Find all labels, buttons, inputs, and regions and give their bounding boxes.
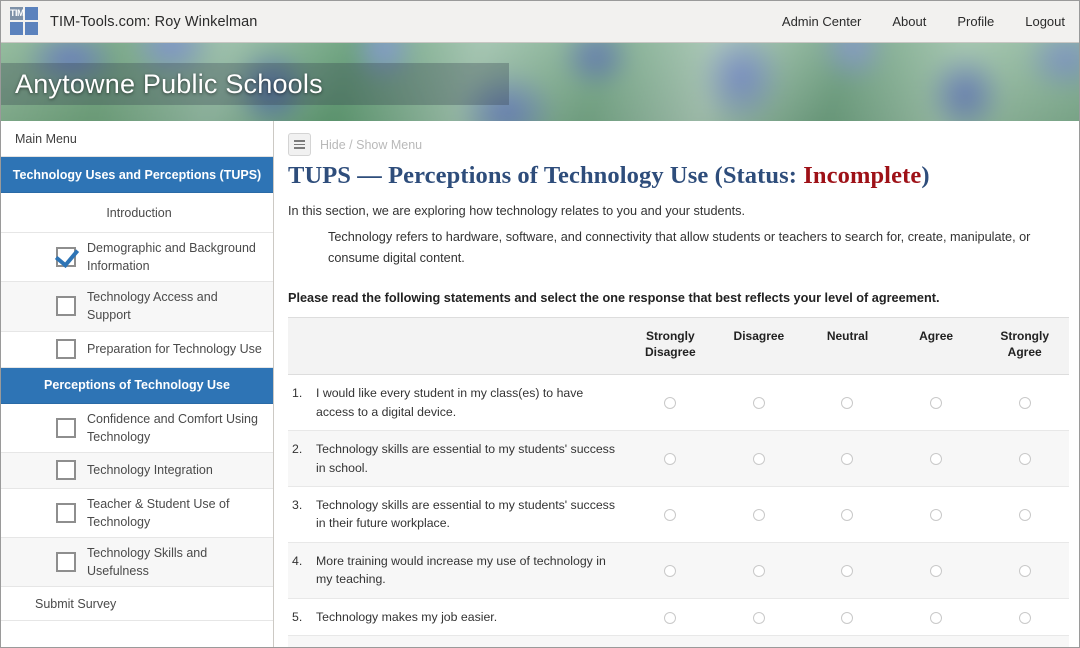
question-text: I would like every student in my class(e… (316, 384, 616, 421)
radio-cell-agree[interactable] (892, 598, 981, 635)
district-banner: Anytowne Public Schools (1, 43, 1079, 121)
radio-cell-neutral[interactable] (803, 487, 892, 543)
radio-button[interactable] (930, 565, 942, 577)
question-number: 6. (292, 645, 316, 647)
radio-cell-strongly-agree[interactable] (980, 598, 1069, 635)
top-bar: TIM TIM-Tools.com: Roy Winkelman Admin C… (1, 1, 1079, 43)
radio-cell-strongly-agree[interactable] (980, 487, 1069, 543)
checkbox-unchecked-icon[interactable] (56, 339, 76, 359)
sidebar-item-label: Submit Survey (35, 597, 116, 611)
question-text: Technology skills are essential to my st… (316, 440, 616, 477)
radio-button[interactable] (841, 612, 853, 624)
app-window: TIM TIM-Tools.com: Roy Winkelman Admin C… (0, 0, 1080, 648)
question-number: 3. (292, 496, 316, 533)
sidebar-item-label: Technology Integration (87, 461, 213, 479)
radio-button[interactable] (664, 453, 676, 465)
sidebar-item-introduction[interactable]: Introduction (1, 193, 273, 233)
logo-text: TIM (10, 7, 23, 20)
site-title: TIM-Tools.com: Roy Winkelman (50, 14, 257, 30)
question-cell: 6. Technology changes my role as a teach… (288, 636, 626, 647)
sidebar-item-label: Demographic and Background Information (87, 239, 262, 275)
page-title: TUPS — Perceptions of Technology Use (St… (288, 162, 1069, 190)
sidebar-item-label: Preparation for Technology Use (87, 340, 262, 358)
table-row: 1. I would like every student in my clas… (288, 375, 1069, 431)
survey-table-head: Strongly Disagree Disagree Neutral Agree… (288, 317, 1069, 374)
radio-button[interactable] (753, 612, 765, 624)
radio-button[interactable] (930, 612, 942, 624)
table-row: 6. Technology changes my role as a teach… (288, 636, 1069, 647)
radio-button[interactable] (664, 612, 676, 624)
radio-cell-agree[interactable] (892, 542, 981, 598)
radio-button[interactable] (1019, 453, 1031, 465)
question-text: Technology makes my job easier. (316, 608, 616, 626)
radio-cell-strongly-disagree[interactable] (626, 598, 715, 635)
page-title-prefix: TUPS — Perceptions of Technology Use (St… (288, 162, 803, 189)
radio-button[interactable] (930, 453, 942, 465)
district-name: Anytowne Public Schools (1, 69, 323, 100)
column-header-neutral: Neutral (803, 317, 892, 374)
nav-about[interactable]: About (892, 14, 926, 29)
column-header-strongly-disagree: Strongly Disagree (626, 317, 715, 374)
radio-cell-agree[interactable] (892, 487, 981, 543)
sidebar-item-teacher-student-use[interactable]: Teacher & Student Use of Technology (1, 489, 273, 538)
radio-cell-agree[interactable] (892, 636, 981, 647)
sidebar-item-technology-access-support[interactable]: Technology Access and Support (1, 282, 273, 331)
sidebar-item-technology-skills-usefulness[interactable]: Technology Skills and Usefulness (1, 538, 273, 587)
survey-table-body: 1. I would like every student in my clas… (288, 375, 1069, 647)
sidebar-item-preparation-technology-use[interactable]: Preparation for Technology Use (1, 332, 273, 368)
radio-cell-strongly-agree[interactable] (980, 375, 1069, 431)
nav-logout[interactable]: Logout (1025, 14, 1065, 29)
radio-cell-neutral[interactable] (803, 542, 892, 598)
checkbox-unchecked-icon[interactable] (56, 418, 76, 438)
radio-cell-neutral[interactable] (803, 636, 892, 647)
radio-cell-disagree[interactable] (715, 375, 804, 431)
sidebar-item-label: Teacher & Student Use of Technology (87, 495, 262, 531)
radio-cell-strongly-disagree[interactable] (626, 636, 715, 647)
radio-button[interactable] (841, 509, 853, 521)
radio-button[interactable] (841, 397, 853, 409)
table-row: 3. Technology skills are essential to my… (288, 487, 1069, 543)
sidebar-item-label: Technology Skills and Usefulness (87, 544, 262, 580)
sidebar-item-tups[interactable]: Technology Uses and Perceptions (TUPS) (1, 157, 273, 193)
question-cell: 1. I would like every student in my clas… (288, 375, 626, 431)
question-number: 5. (292, 608, 316, 626)
table-row: 4. More training would increase my use o… (288, 542, 1069, 598)
table-row: 5. Technology makes my job easier. (288, 598, 1069, 635)
radio-button[interactable] (1019, 397, 1031, 409)
nav-admin-center[interactable]: Admin Center (782, 14, 861, 29)
banner-title-plate: Anytowne Public Schools (1, 63, 509, 105)
question-cell: 3. Technology skills are essential to my… (288, 487, 626, 543)
sidebar-item-label: Introduction (106, 206, 171, 220)
radio-cell-disagree[interactable] (715, 598, 804, 635)
question-cell: 4. More training would increase my use o… (288, 542, 626, 598)
sidebar-item-perceptions-technology-use[interactable]: Perceptions of Technology Use (1, 368, 273, 404)
checkbox-unchecked-icon[interactable] (56, 460, 76, 480)
sidebar-item-label: Technology Uses and Perceptions (TUPS) (13, 168, 261, 182)
radio-cell-neutral[interactable] (803, 375, 892, 431)
radio-cell-disagree[interactable] (715, 487, 804, 543)
radio-button[interactable] (664, 509, 676, 521)
radio-cell-disagree[interactable] (715, 542, 804, 598)
radio-cell-strongly-agree[interactable] (980, 636, 1069, 647)
radio-button[interactable] (753, 509, 765, 521)
radio-button[interactable] (1019, 565, 1031, 577)
column-header-question (288, 317, 626, 374)
radio-button[interactable] (1019, 509, 1031, 521)
radio-cell-strongly-disagree[interactable] (626, 542, 715, 598)
radio-button[interactable] (841, 565, 853, 577)
checkbox-unchecked-icon[interactable] (56, 552, 76, 572)
menu-toggle-row: Hide / Show Menu (288, 133, 1069, 156)
table-row: 2. Technology skills are essential to my… (288, 431, 1069, 487)
checkbox-unchecked-icon[interactable] (56, 296, 76, 316)
radio-cell-strongly-agree[interactable] (980, 431, 1069, 487)
radio-cell-neutral[interactable] (803, 598, 892, 635)
main-content: Hide / Show Menu TUPS — Perceptions of T… (274, 121, 1079, 647)
radio-cell-disagree[interactable] (715, 636, 804, 647)
column-header-agree: Agree (892, 317, 981, 374)
sidebar-item-submit-survey[interactable]: Submit Survey (1, 587, 273, 621)
radio-cell-agree[interactable] (892, 375, 981, 431)
top-nav: Admin Center About Profile Logout (782, 14, 1065, 29)
question-cell: 2. Technology skills are essential to my… (288, 431, 626, 487)
sidebar-item-technology-integration[interactable]: Technology Integration (1, 453, 273, 489)
section-intro-text: In this section, we are exploring how te… (288, 204, 1069, 218)
sidebar-item-confidence-comfort[interactable]: Confidence and Comfort Using Technology (1, 404, 273, 453)
question-text: Technology changes my role as a teacher. (316, 645, 616, 647)
sidebar-item-label: Technology Access and Support (87, 288, 262, 324)
page-title-suffix: ) (921, 162, 929, 189)
checkbox-checked-icon[interactable] (56, 247, 76, 267)
tim-tools-logo-icon[interactable]: TIM (10, 7, 40, 37)
sidebar: Main Menu Technology Uses and Perception… (1, 121, 274, 647)
radio-button[interactable] (841, 453, 853, 465)
nav-profile[interactable]: Profile (957, 14, 994, 29)
question-number: 1. (292, 384, 316, 421)
radio-button[interactable] (930, 397, 942, 409)
survey-header-row: Strongly Disagree Disagree Neutral Agree… (288, 317, 1069, 374)
survey-table: Strongly Disagree Disagree Neutral Agree… (288, 317, 1069, 647)
radio-button[interactable] (664, 397, 676, 409)
question-number: 4. (292, 552, 316, 589)
column-header-disagree: Disagree (715, 317, 804, 374)
checkbox-unchecked-icon[interactable] (56, 503, 76, 523)
hamburger-icon[interactable] (288, 133, 311, 156)
column-header-strongly-agree: Strongly Agree (980, 317, 1069, 374)
technology-definition-text: Technology refers to hardware, software,… (288, 227, 1048, 269)
status-badge: Incomplete (803, 162, 921, 189)
radio-cell-strongly-disagree[interactable] (626, 431, 715, 487)
question-number: 2. (292, 440, 316, 477)
sidebar-item-label: Confidence and Comfort Using Technology (87, 410, 262, 446)
radio-cell-disagree[interactable] (715, 431, 804, 487)
radio-cell-neutral[interactable] (803, 431, 892, 487)
sidebar-main-menu-header: Main Menu (1, 121, 273, 157)
question-cell: 5. Technology makes my job easier. (288, 598, 626, 635)
radio-button[interactable] (930, 509, 942, 521)
question-text: More training would increase my use of t… (316, 552, 616, 589)
radio-button[interactable] (1019, 612, 1031, 624)
radio-button[interactable] (753, 397, 765, 409)
radio-cell-strongly-disagree[interactable] (626, 375, 715, 431)
body-wrapper: Main Menu Technology Uses and Perception… (1, 121, 1079, 647)
hide-show-menu-label[interactable]: Hide / Show Menu (320, 138, 422, 152)
radio-button[interactable] (753, 453, 765, 465)
sidebar-item-label: Perceptions of Technology Use (44, 378, 230, 392)
question-text: Technology skills are essential to my st… (316, 496, 616, 533)
radio-cell-strongly-disagree[interactable] (626, 487, 715, 543)
radio-button[interactable] (753, 565, 765, 577)
radio-cell-agree[interactable] (892, 431, 981, 487)
survey-instruction-text: Please read the following statements and… (288, 291, 1069, 305)
radio-cell-strongly-agree[interactable] (980, 542, 1069, 598)
sidebar-item-demographic-background[interactable]: Demographic and Background Information (1, 233, 273, 282)
radio-button[interactable] (664, 565, 676, 577)
